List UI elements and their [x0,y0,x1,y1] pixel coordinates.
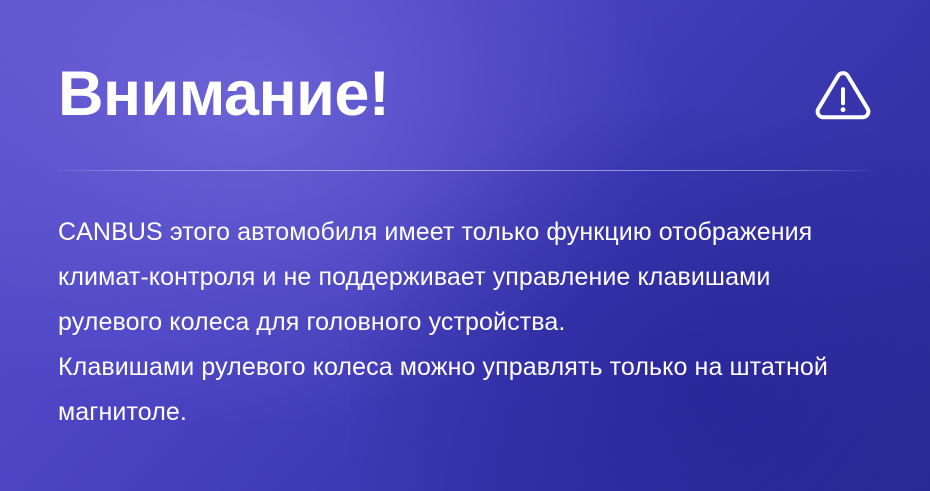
body-line: климат-контроля и не поддерживает управл… [58,255,880,300]
body-line: рулевого колеса для головного устройства… [58,300,880,345]
warning-triangle-icon [812,63,874,125]
body-line: CANBUS этого автомобиля имеет только фун… [58,210,880,255]
body-line: Клавишами рулевого колеса можно управлят… [58,345,880,390]
body-copy: CANBUS этого автомобиля имеет только фун… [58,210,880,435]
page-title: Внимание! [58,63,389,126]
body-line: магнитоле. [58,390,880,435]
warning-banner: Внимание! CANBUS этого автомобиля имеет … [0,0,930,491]
divider [58,170,870,171]
header-row: Внимание! [58,52,878,136]
